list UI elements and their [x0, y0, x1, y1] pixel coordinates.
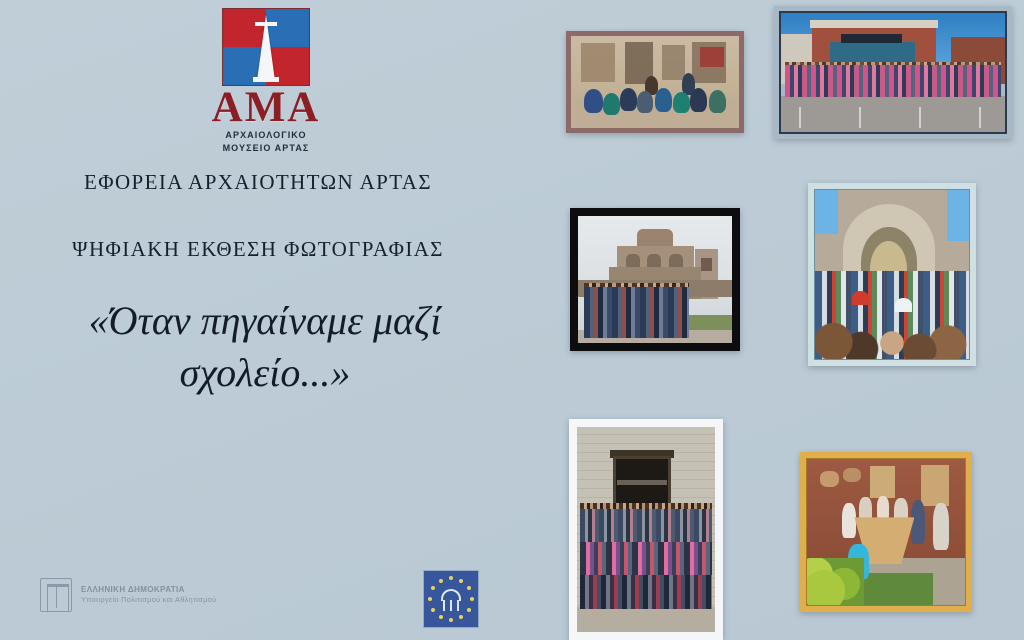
- eu-star: [428, 597, 432, 601]
- children-heads: [815, 302, 969, 359]
- sky-gap-right: [947, 190, 969, 241]
- eu-star: [431, 586, 435, 590]
- photo-thumbnail-4[interactable]: [808, 183, 976, 366]
- museum-logo: AMA ΑΡΧΑΙΟΛΟΓΙΚΟ ΜΟΥΣΕΙΟ ΑΡΤΑΣ: [186, 8, 346, 154]
- photo-thumbnail-2[interactable]: [774, 6, 1012, 139]
- student-group-front-row: [580, 575, 712, 610]
- paved-ground: [577, 607, 715, 632]
- fresco-panel: [662, 45, 686, 80]
- seated-child: [603, 93, 620, 115]
- eu-column-2: [450, 600, 452, 611]
- photo-thumbnail-1[interactable]: [566, 31, 744, 133]
- student-group-row: [785, 65, 1000, 97]
- door-bar: [617, 480, 667, 485]
- eu-star: [449, 576, 453, 580]
- eu-star: [459, 615, 463, 619]
- photo-1-content: [571, 36, 739, 128]
- eu-monument-glyph: [438, 589, 464, 611]
- eu-star: [431, 608, 435, 612]
- photo-thumbnail-6[interactable]: [800, 452, 972, 612]
- ministry-line-1: ΕΛΛΗΝΙΚΗ ΔΗΜΟΚΡΑΤΙΑ: [81, 585, 216, 596]
- bell-tower-opening: [701, 258, 712, 271]
- foliage-foreground: [807, 558, 864, 605]
- woven-sack: [870, 466, 895, 498]
- eu-star: [449, 618, 453, 622]
- exhibition-type-heading: ΨΗΦΙΑΚΗ ΕΚΘΕΣΗ ΦΩΤΟΓΡΑΦΙΑΣ: [0, 237, 516, 262]
- building-cornice: [810, 20, 938, 28]
- child-figure: [933, 503, 949, 550]
- photo-3-content: [578, 216, 732, 343]
- european-heritage-emblem-icon: [423, 570, 479, 628]
- seated-child: [655, 88, 672, 112]
- red-cap: [852, 291, 869, 305]
- clay-pot: [820, 471, 839, 487]
- exhibition-poster: AMA ΑΡΧΑΙΟΛΟΓΙΚΟ ΜΟΥΣΕΙΟ ΑΡΤΑΣ ΕΦΟΡΕΙΑ Α…: [0, 0, 1024, 640]
- photo-5-content: [577, 427, 715, 632]
- seated-child: [620, 88, 637, 111]
- ministry-line-2: Υπουργείο Πολιτισμού και Αθλητισμού: [81, 595, 216, 605]
- museum-signage: [841, 34, 901, 42]
- photo-thumbnail-3[interactable]: [570, 208, 740, 351]
- parking-lines: [799, 107, 987, 128]
- seated-child: [673, 92, 690, 113]
- woven-sack: [921, 465, 949, 506]
- logo-base-shape: [253, 77, 279, 82]
- photo-6-content: [807, 459, 965, 605]
- eu-column-1: [443, 600, 445, 611]
- eu-star: [459, 579, 463, 583]
- photo-thumbnail-5[interactable]: [569, 419, 723, 640]
- eu-star: [439, 579, 443, 583]
- logo-cross-icon: [255, 22, 277, 26]
- child-figure: [877, 496, 890, 521]
- ministry-logo: ΕΛΛΗΝΙΚΗ ΔΗΜΟΚΡΑΤΙΑ Υπουργείο Πολιτισμού…: [40, 578, 216, 612]
- photo-2-content: [781, 13, 1005, 132]
- student-group: [584, 287, 689, 338]
- logo-subtitle-line1: ΑΡΧΑΙΟΛΟΓΙΚΟ: [186, 130, 346, 141]
- eu-star: [439, 615, 443, 619]
- seated-child: [584, 89, 602, 113]
- photo-4-content: [815, 190, 969, 359]
- eu-column-3: [457, 600, 459, 611]
- exhibition-title: «Όταν πηγαίναμε μαζί σχολείο...»: [0, 295, 530, 399]
- greek-republic-emblem-icon: [40, 578, 72, 612]
- logo-acronym: AMA: [186, 88, 346, 128]
- white-cap: [895, 298, 912, 312]
- ministry-text-block: ΕΛΛΗΝΙΚΗ ΔΗΜΟΚΡΑΤΙΑ Υπουργείο Πολιτισμού…: [81, 585, 216, 606]
- sky-gap-left: [815, 190, 838, 234]
- fresco-panel: [581, 43, 615, 82]
- eu-star: [470, 597, 474, 601]
- seated-child: [637, 91, 654, 113]
- child-figure: [842, 503, 856, 538]
- logo-subtitle-line2: ΜΟΥΣΕΙΟ ΑΡΤΑΣ: [186, 143, 346, 154]
- eu-star: [467, 608, 471, 612]
- seated-child: [709, 90, 726, 113]
- organization-heading: ΕΦΟΡΕΙΑ ΑΡΧΑΙΟΤΗΤΩΝ ΑΡΤΑΣ: [0, 170, 516, 195]
- seated-child: [690, 88, 707, 113]
- red-banner: [700, 47, 724, 67]
- clay-pot: [843, 468, 860, 483]
- child-figure: [911, 500, 925, 544]
- ama-museum-logo-icon: [222, 8, 310, 86]
- eu-star: [467, 586, 471, 590]
